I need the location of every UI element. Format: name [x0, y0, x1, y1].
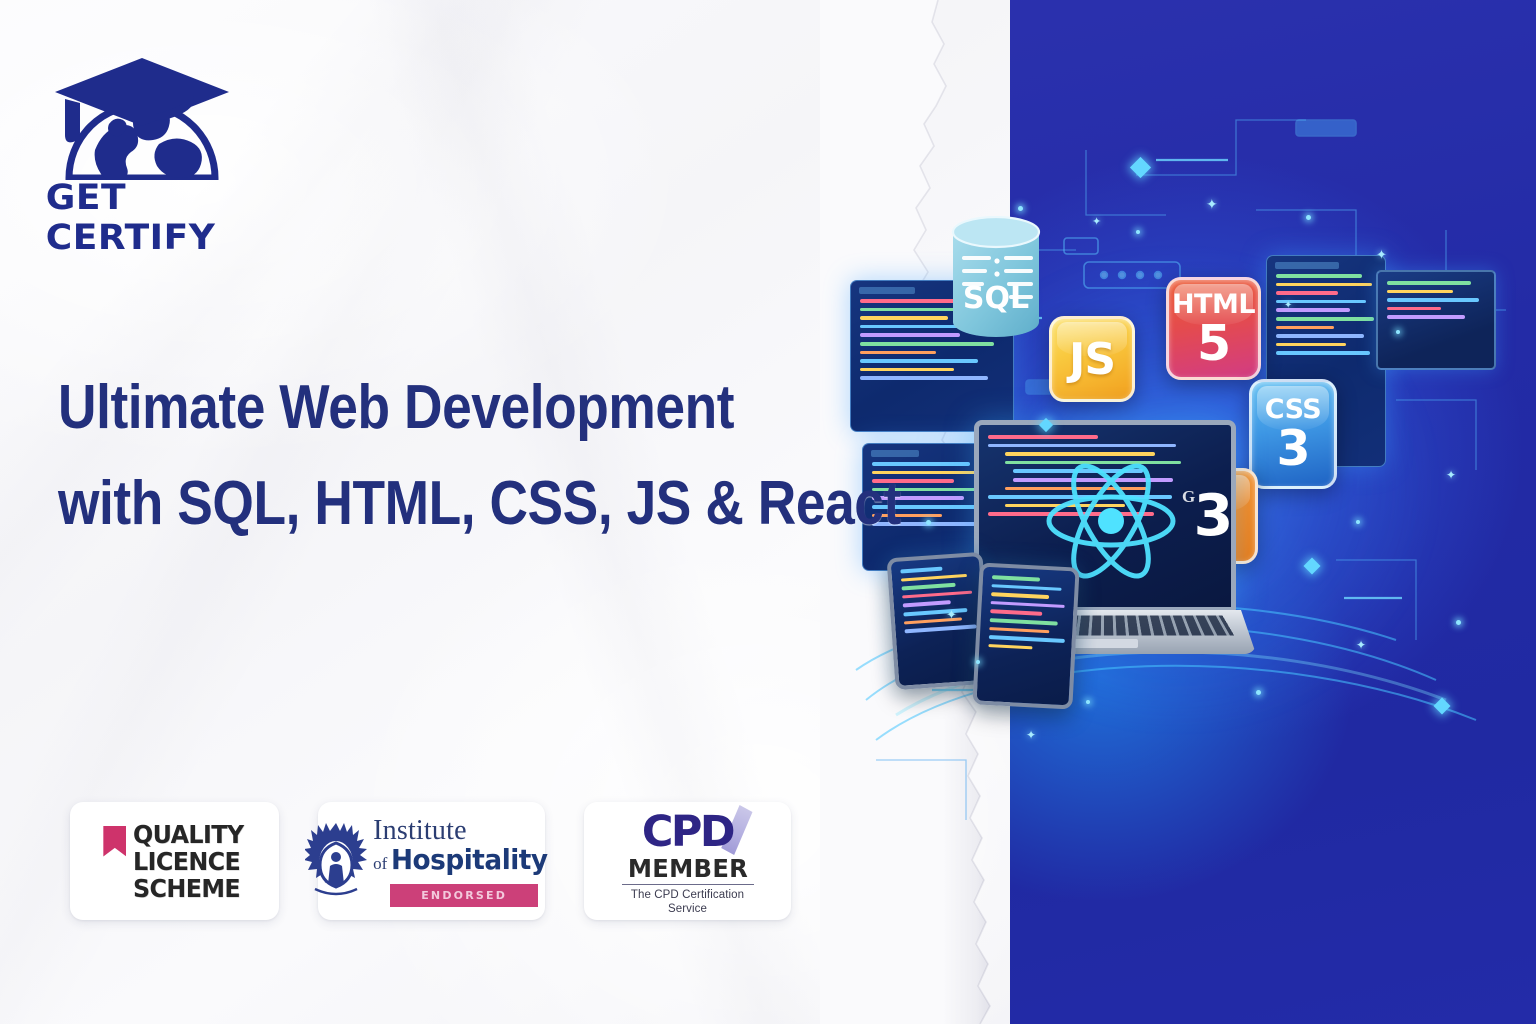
- ioh-endorsed-label: ENDORSED: [421, 889, 507, 902]
- brand-logo[interactable]: GET CERTIFY: [47, 52, 262, 232]
- cpd-member-label: MEMBER: [615, 855, 761, 882]
- headline-line-2: with SQL, HTML, CSS, JS & React: [58, 456, 780, 552]
- sparkle: [1306, 215, 1311, 220]
- sql-database-icon: SQL: [949, 216, 1043, 338]
- ioh-endorsed-banner: ENDORSED: [390, 884, 538, 907]
- tablet-device: [972, 562, 1079, 709]
- star-sparkle: ✦: [1376, 250, 1387, 261]
- sparkle: [1256, 690, 1261, 695]
- css3-badge: CSS 3: [1249, 379, 1337, 489]
- sparkle: [926, 520, 931, 525]
- accreditation-badges: QUALITY LICENCE SCHEME: [70, 802, 791, 920]
- star-sparkle: ✦: [1092, 216, 1101, 227]
- heraldic-crest-icon: [305, 819, 367, 903]
- badge-cpd-member[interactable]: CPD MEMBER The CPD Certification Service: [584, 802, 791, 920]
- ioh-title-hospitality: Hospitality: [391, 845, 548, 875]
- cpd-abbreviation: CPD: [613, 810, 763, 854]
- html5-badge: HTML 5: [1166, 277, 1261, 380]
- sparkle: [1136, 230, 1140, 234]
- sparkle: [1018, 206, 1023, 211]
- course-banner: SQL JS HTML 5 CSS 3 G: [0, 0, 1536, 1024]
- page-title: Ultimate Web Development with SQL, HTML,…: [58, 360, 898, 552]
- diamond-node: [1130, 157, 1151, 178]
- badge-institute-of-hospitality[interactable]: Institute of Hospitality ENDORSED: [318, 802, 545, 920]
- javascript-badge: JS: [1049, 316, 1135, 402]
- sparkle: [976, 660, 980, 664]
- cpd-subtitle-line-2: Service: [613, 902, 763, 916]
- graduation-cap-globe-icon: [47, 52, 237, 180]
- sparkle: [1396, 330, 1400, 334]
- headline-line-1: Ultimate Web Development: [58, 360, 780, 456]
- star-sparkle: ✦: [946, 610, 957, 621]
- technology-illustration: SQL JS HTML 5 CSS 3 G: [836, 0, 1536, 1024]
- cpd-subtitle-line-1: The CPD Certification: [613, 888, 763, 902]
- star-sparkle: ✦: [1356, 640, 1366, 651]
- badge-quality-licence-scheme[interactable]: QUALITY LICENCE SCHEME: [70, 802, 279, 920]
- star-sparkle: ✦: [1446, 470, 1456, 481]
- qls-line-2: LICENCE: [133, 848, 244, 875]
- ioh-title-institute: Institute: [373, 816, 558, 845]
- ioh-title-of: of: [373, 849, 387, 879]
- star-sparkle: ✦: [1284, 300, 1292, 311]
- star-sparkle: ✦: [1206, 200, 1218, 211]
- sparkle: [1356, 520, 1360, 524]
- sparkle: [1456, 620, 1461, 625]
- star-sparkle: ✦: [1026, 730, 1036, 741]
- logo-wordmark: GET CERTIFY: [46, 178, 265, 258]
- bookmark-ribbon-icon: [103, 826, 126, 857]
- code-panel: [1376, 270, 1496, 370]
- svg-text:SQL: SQL: [963, 281, 1029, 316]
- diamond-node: [1434, 698, 1451, 715]
- qls-line-1: QUALITY: [133, 821, 244, 848]
- sparkle: [1086, 700, 1090, 704]
- qls-line-3: SCHEME: [133, 875, 244, 902]
